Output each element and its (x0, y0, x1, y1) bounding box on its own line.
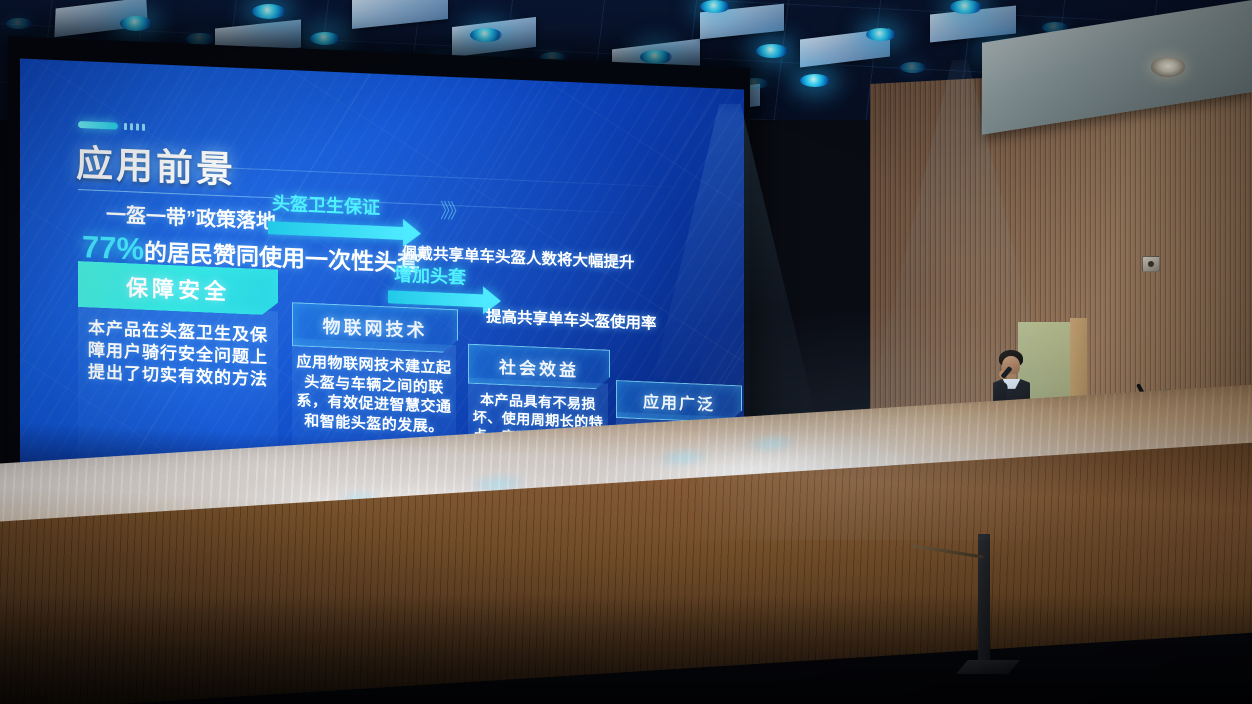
stage-par-light (252, 4, 286, 19)
card-1-heading: 保障安全 (126, 270, 230, 306)
rope-stanchion (958, 526, 1028, 684)
recessed-downlight-icon (1151, 57, 1185, 77)
stage-par-light (900, 62, 926, 73)
card-2-heading: 物联网技术 (323, 312, 428, 342)
statistic-percent: 77% (82, 229, 144, 267)
stanchion-base (956, 660, 1020, 674)
stage-par-light (800, 74, 830, 87)
arrow2-result: 提高共享单车头盔使用率 (486, 304, 657, 333)
policy-line: 一盔一带”政策落地 (106, 198, 276, 234)
card-3-heading-box: 社会效益 (468, 344, 610, 390)
foreground-shadow (0, 594, 1252, 704)
title-decoration-dots (124, 123, 145, 131)
card-4-heading: 应用广泛 (643, 388, 715, 415)
card-2-body: 应用物联网技术建立起头盔与车辆之间的联系，有效促进智慧交通和智能头盔的发展。 (296, 352, 452, 437)
slide-hairline (230, 167, 700, 188)
stage-par-light (470, 28, 502, 42)
slide-title: 应用前景 (76, 133, 236, 194)
arrow1-label: 头盔卫生保证 (272, 189, 380, 220)
screenshot-root: 应用前景 一盔一带”政策落地 77%的居民赞同使用一次性头套 头盔卫生保证 》》… (0, 0, 1252, 704)
chevron-decoration-icon: 》》 (440, 194, 464, 224)
stage-par-light (6, 18, 32, 29)
stage-par-light (310, 32, 340, 45)
card-2-heading-box: 物联网技术 (292, 302, 458, 353)
stage-par-light (756, 44, 788, 58)
stage-par-light (640, 50, 672, 64)
wall-socket-plate (1142, 256, 1160, 272)
stage-par-light (120, 16, 152, 31)
card-3-heading: 社会效益 (499, 353, 579, 381)
stanchion-post (978, 534, 990, 666)
stage-par-light (866, 28, 896, 41)
card-1-body: 本产品在头盔卫生及保障用户骑行安全问题上提出了切实有效的方法 (84, 317, 272, 391)
card-4-heading-box: 应用广泛 (616, 380, 742, 423)
stage-par-light (700, 0, 730, 13)
stage-par-light (950, 0, 982, 14)
card-1-heading-box: 保障安全 (78, 261, 278, 316)
title-decoration-bar (78, 121, 118, 130)
flow-arrow-2 (388, 290, 484, 307)
arrow2-label: 增加头套 (394, 261, 466, 290)
